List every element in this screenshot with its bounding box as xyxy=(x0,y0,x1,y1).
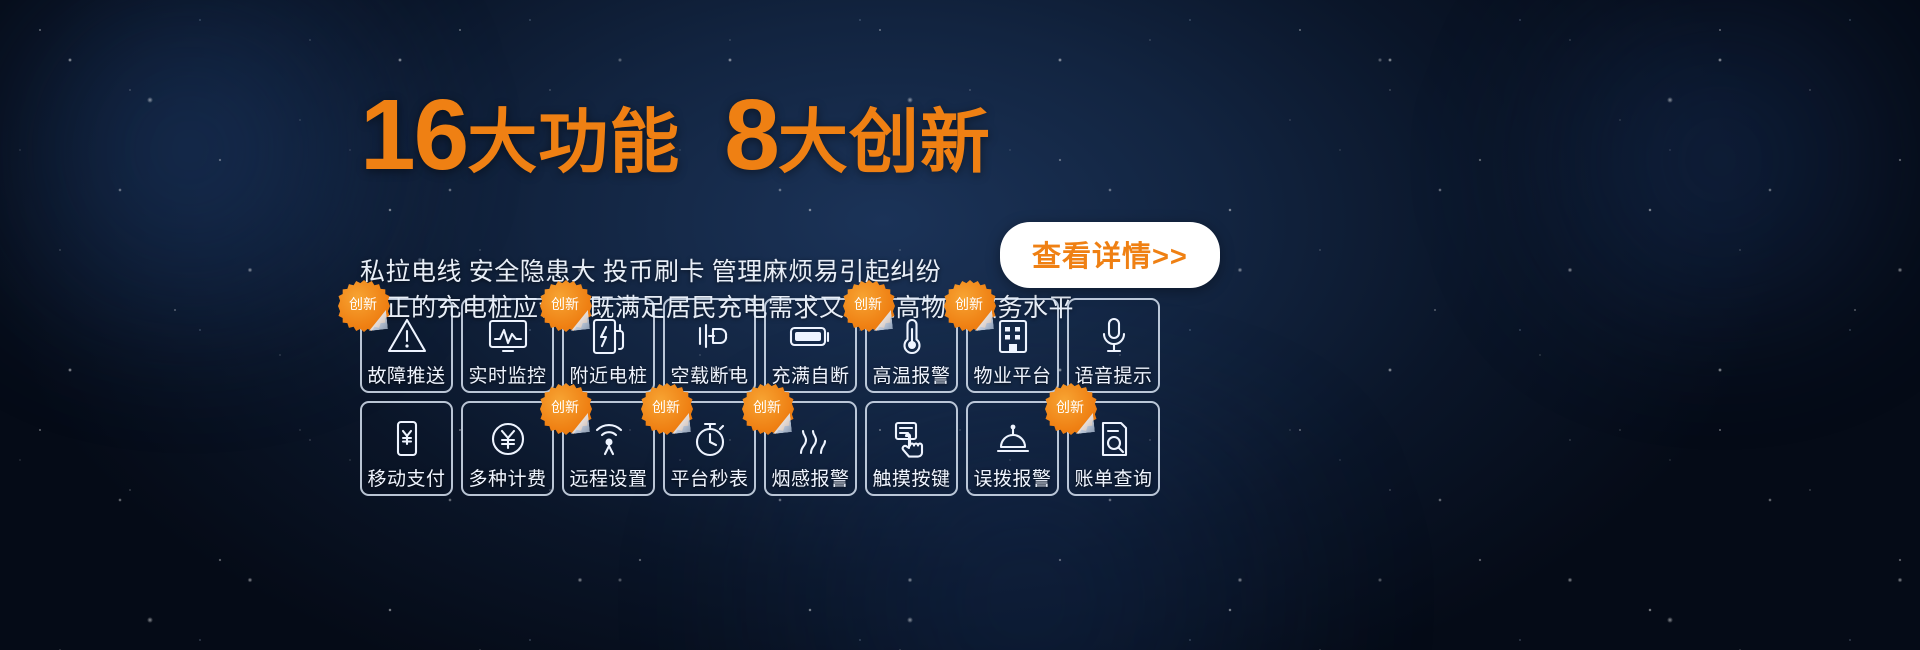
feature-tile-label: 触摸按键 xyxy=(872,470,950,489)
feature-tile-label: 高温报警 xyxy=(872,367,950,386)
feature-tile[interactable]: 充满自断 xyxy=(764,298,857,393)
subtitle-line-1: 私拉电线 安全隐患大 投币刷卡 管理麻烦易引起纠纷 xyxy=(360,255,1074,291)
headline: 16 大功能 8 大创新 xyxy=(360,88,991,183)
building-icon xyxy=(968,300,1057,367)
yuan-coin-icon xyxy=(463,403,552,470)
feature-tile-label: 空载断电 xyxy=(670,367,748,386)
feature-tile-label: 账单查询 xyxy=(1074,470,1152,489)
feature-tile[interactable]: 实时监控 xyxy=(461,298,554,393)
view-details-button[interactable]: 查看详情>> xyxy=(1000,222,1220,288)
feature-tile[interactable]: 创新附近电桩 xyxy=(562,298,655,393)
warning-triangle-icon xyxy=(362,300,451,367)
feature-tile[interactable]: 空载断电 xyxy=(663,298,756,393)
feature-tile-label: 多种计费 xyxy=(468,470,546,489)
monitor-waveform-icon xyxy=(463,300,552,367)
feature-tile[interactable]: 创新平台秒表 xyxy=(663,401,756,496)
feature-tile-label: 实时监控 xyxy=(468,367,546,386)
bill-search-icon xyxy=(1069,403,1158,470)
feature-tile[interactable]: 创新烟感报警 xyxy=(764,401,857,496)
feature-tile-label: 故障推送 xyxy=(367,367,445,386)
feature-tile[interactable]: 误拨报警 xyxy=(966,401,1059,496)
feature-tile-label: 充满自断 xyxy=(771,367,849,386)
feature-tile[interactable]: 触摸按键 xyxy=(865,401,958,496)
plug-disconnect-icon xyxy=(665,300,754,367)
feature-tile-label: 语音提示 xyxy=(1074,367,1152,386)
microphone-icon xyxy=(1069,300,1158,367)
stopwatch-icon xyxy=(665,403,754,470)
mobile-payment-icon xyxy=(362,403,451,470)
feature-tile-label: 误拨报警 xyxy=(973,470,1051,489)
feature-tile-label: 远程设置 xyxy=(569,470,647,489)
headline-number-innovations: 8 xyxy=(724,88,778,183)
feature-row-1: 创新故障推送实时监控创新附近电桩空载断电充满自断创新高温报警创新物业平台语音提示 xyxy=(360,298,1160,393)
touch-hand-icon xyxy=(867,403,956,470)
feature-tile[interactable]: 创新远程设置 xyxy=(562,401,655,496)
feature-tile[interactable]: 语音提示 xyxy=(1067,298,1160,393)
feature-tile[interactable]: 创新账单查询 xyxy=(1067,401,1160,496)
feature-tile-label: 附近电桩 xyxy=(569,367,647,386)
feature-tile-label: 移动支付 xyxy=(367,470,445,489)
feature-tile-label: 平台秒表 xyxy=(670,470,748,489)
battery-full-icon xyxy=(766,300,855,367)
promo-banner: 16 大功能 8 大创新 私拉电线 安全隐患大 投币刷卡 管理麻烦易引起纠纷 真… xyxy=(0,0,1920,650)
feature-tile[interactable]: 创新物业平台 xyxy=(966,298,1059,393)
feature-tile[interactable]: 创新高温报警 xyxy=(865,298,958,393)
feature-tile-grid: 创新故障推送实时监控创新附近电桩空载断电充满自断创新高温报警创新物业平台语音提示… xyxy=(360,298,1160,496)
wireless-signal-icon xyxy=(564,403,653,470)
feature-tile-label: 烟感报警 xyxy=(771,470,849,489)
alarm-bell-icon xyxy=(968,403,1057,470)
smoke-detector-icon xyxy=(766,403,855,470)
headline-text-functions: 大功能 xyxy=(467,106,680,184)
feature-tile-label: 物业平台 xyxy=(973,367,1051,386)
feature-tile[interactable]: 多种计费 xyxy=(461,401,554,496)
headline-number-functions: 16 xyxy=(360,88,467,183)
headline-text-innovations: 大创新 xyxy=(778,106,991,184)
feature-row-2: 移动支付多种计费创新远程设置创新平台秒表创新烟感报警触摸按键误拨报警创新账单查询 xyxy=(360,401,1160,496)
feature-tile[interactable]: 创新故障推送 xyxy=(360,298,453,393)
thermometer-icon xyxy=(867,300,956,367)
charging-station-icon xyxy=(564,300,653,367)
feature-tile[interactable]: 移动支付 xyxy=(360,401,453,496)
